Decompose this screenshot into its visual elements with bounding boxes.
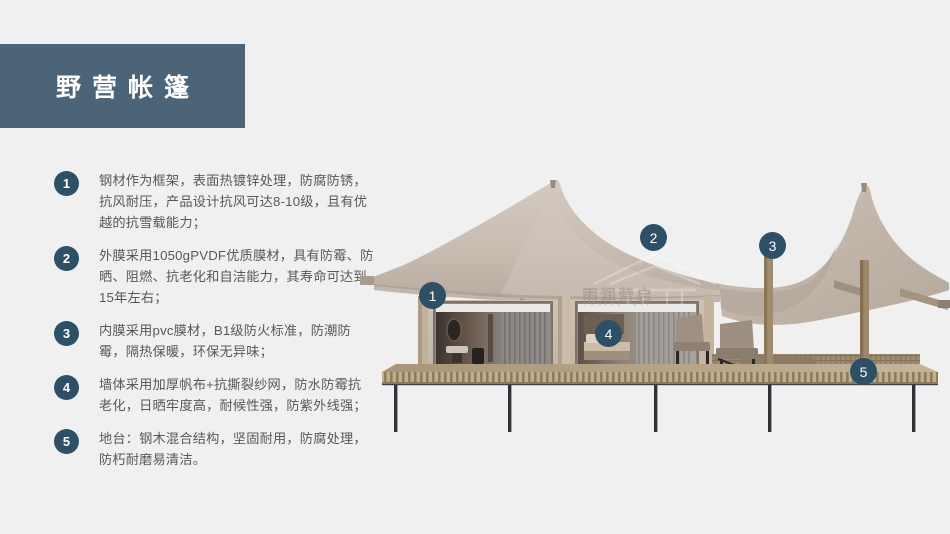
list-badge-2: 2 [54, 246, 79, 271]
deck-support-legs [394, 384, 915, 432]
page-title-bar: 野营帐篷 [0, 44, 245, 128]
image-badge-1: 1 [419, 282, 446, 309]
list-text-3: 内膜采用pvc膜材，B1级防火标准，防潮防霉，隔热保暖，环保无异味； [99, 320, 374, 362]
list-text-4: 墙体采用加厚帆布+抗撕裂纱网，防水防霉抗老化，日晒牢度高，耐候性强，防紫外线强； [99, 374, 374, 416]
list-badge-4: 4 [54, 375, 79, 400]
list-badge-3: 3 [54, 321, 79, 346]
image-badge-2: 2 [640, 224, 667, 251]
window-left [434, 302, 552, 368]
list-text-5: 地台：钢木混合结构，坚固耐用，防腐处理，防朽耐磨易清洁。 [99, 428, 374, 470]
list-item: 4 墙体采用加厚帆布+抗撕裂纱网，防水防霉抗老化，日晒牢度高，耐候性强，防紫外线… [54, 374, 374, 416]
tent-illustration [360, 150, 950, 470]
feature-list: 1 钢材作为框架，表面热镀锌处理，防腐防锈，抗风耐压，产品设计抗风可达8-10级… [54, 170, 374, 482]
list-text-2: 外膜采用1050gPVDF优质膜材，具有防霉、防晒、阻燃、抗老化和自洁能力，其寿… [99, 245, 374, 308]
image-badge-4: 4 [595, 320, 622, 347]
page-title: 野营帐篷 [45, 68, 200, 104]
tent-cabin [418, 296, 714, 374]
list-item: 2 外膜采用1050gPVDF优质膜材，具有防霉、防晒、阻燃、抗老化和自洁能力，… [54, 245, 374, 308]
tent-graphic [360, 150, 950, 470]
list-text-1: 钢材作为框架，表面热镀锌处理，防腐防锈，抗风耐压，产品设计抗风可达8-10级，且… [99, 170, 374, 233]
list-badge-1: 1 [54, 171, 79, 196]
image-badge-5: 5 [850, 358, 877, 385]
image-badge-3: 3 [759, 232, 786, 259]
list-item: 3 内膜采用pvc膜材，B1级防火标准，防潮防霉，隔热保暖，环保无异味； [54, 320, 374, 362]
list-item: 5 地台：钢木混合结构，坚固耐用，防腐处理，防朽耐磨易清洁。 [54, 428, 374, 470]
list-badge-5: 5 [54, 429, 79, 454]
list-item: 1 钢材作为框架，表面热镀锌处理，防腐防锈，抗风耐压，产品设计抗风可达8-10级… [54, 170, 374, 233]
